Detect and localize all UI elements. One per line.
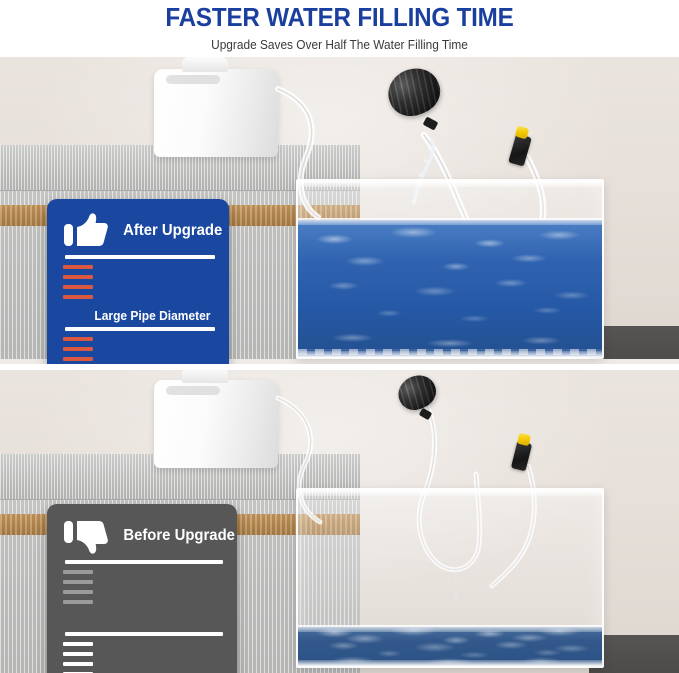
tank-rim (298, 490, 602, 496)
tick-mark (63, 642, 93, 646)
panel-before-upgrade: Before Upgrade (0, 370, 679, 673)
page-title: FASTER WATER FILLING TIME (24, 2, 655, 33)
panel-after-upgrade: After Upgrade Large Pipe Diameter Large … (0, 57, 679, 364)
panel-divider (0, 364, 679, 370)
card-title-after: After Upgrade (123, 222, 222, 240)
tick-mark (63, 570, 93, 574)
tick-mark (63, 285, 93, 289)
aquarium-tank-before (296, 488, 604, 668)
tick-mark (63, 295, 93, 299)
tick-mark (63, 590, 93, 594)
page-subtitle: Upgrade Saves Over Half The Water Fillin… (17, 36, 662, 54)
card-header-before: Before Upgrade (63, 516, 223, 556)
feature-row-pipe-diameter: Large Pipe Diameter (63, 309, 215, 327)
tick-mark (63, 600, 93, 604)
card-title-before: Before Upgrade (123, 527, 235, 545)
tick-mark (63, 275, 93, 279)
comparison-card-after[interactable]: After Upgrade Large Pipe Diameter Large … (47, 199, 229, 364)
tick-mark (63, 347, 93, 351)
tank-water-after (298, 220, 602, 357)
tick-group-2-before (63, 636, 223, 673)
water-texture (298, 220, 602, 357)
comparison-card-before[interactable]: Before Upgrade (47, 504, 237, 673)
tick-mark (63, 662, 93, 666)
feature-row-blank-1 (63, 614, 223, 632)
tank-rim (298, 181, 602, 187)
card-header-after: After Upgrade (63, 211, 215, 251)
tick-mark (63, 580, 93, 584)
header: FASTER WATER FILLING TIME Upgrade Saves … (0, 0, 679, 57)
aquarium-tank-after (296, 179, 604, 359)
tick-mark (63, 265, 93, 269)
thumbs-up-icon (63, 212, 109, 250)
tick-group-2-after (63, 331, 215, 364)
tick-mark (63, 337, 93, 341)
tank-base (298, 660, 602, 666)
tick-mark (63, 357, 93, 361)
tick-group-1-after (63, 259, 215, 309)
feature-label-pipe-diameter: Large Pipe Diameter (95, 309, 211, 323)
tick-group-1-before (63, 564, 223, 614)
thumbs-down-icon (63, 517, 109, 555)
tank-base (298, 351, 602, 357)
tick-mark (63, 652, 93, 656)
